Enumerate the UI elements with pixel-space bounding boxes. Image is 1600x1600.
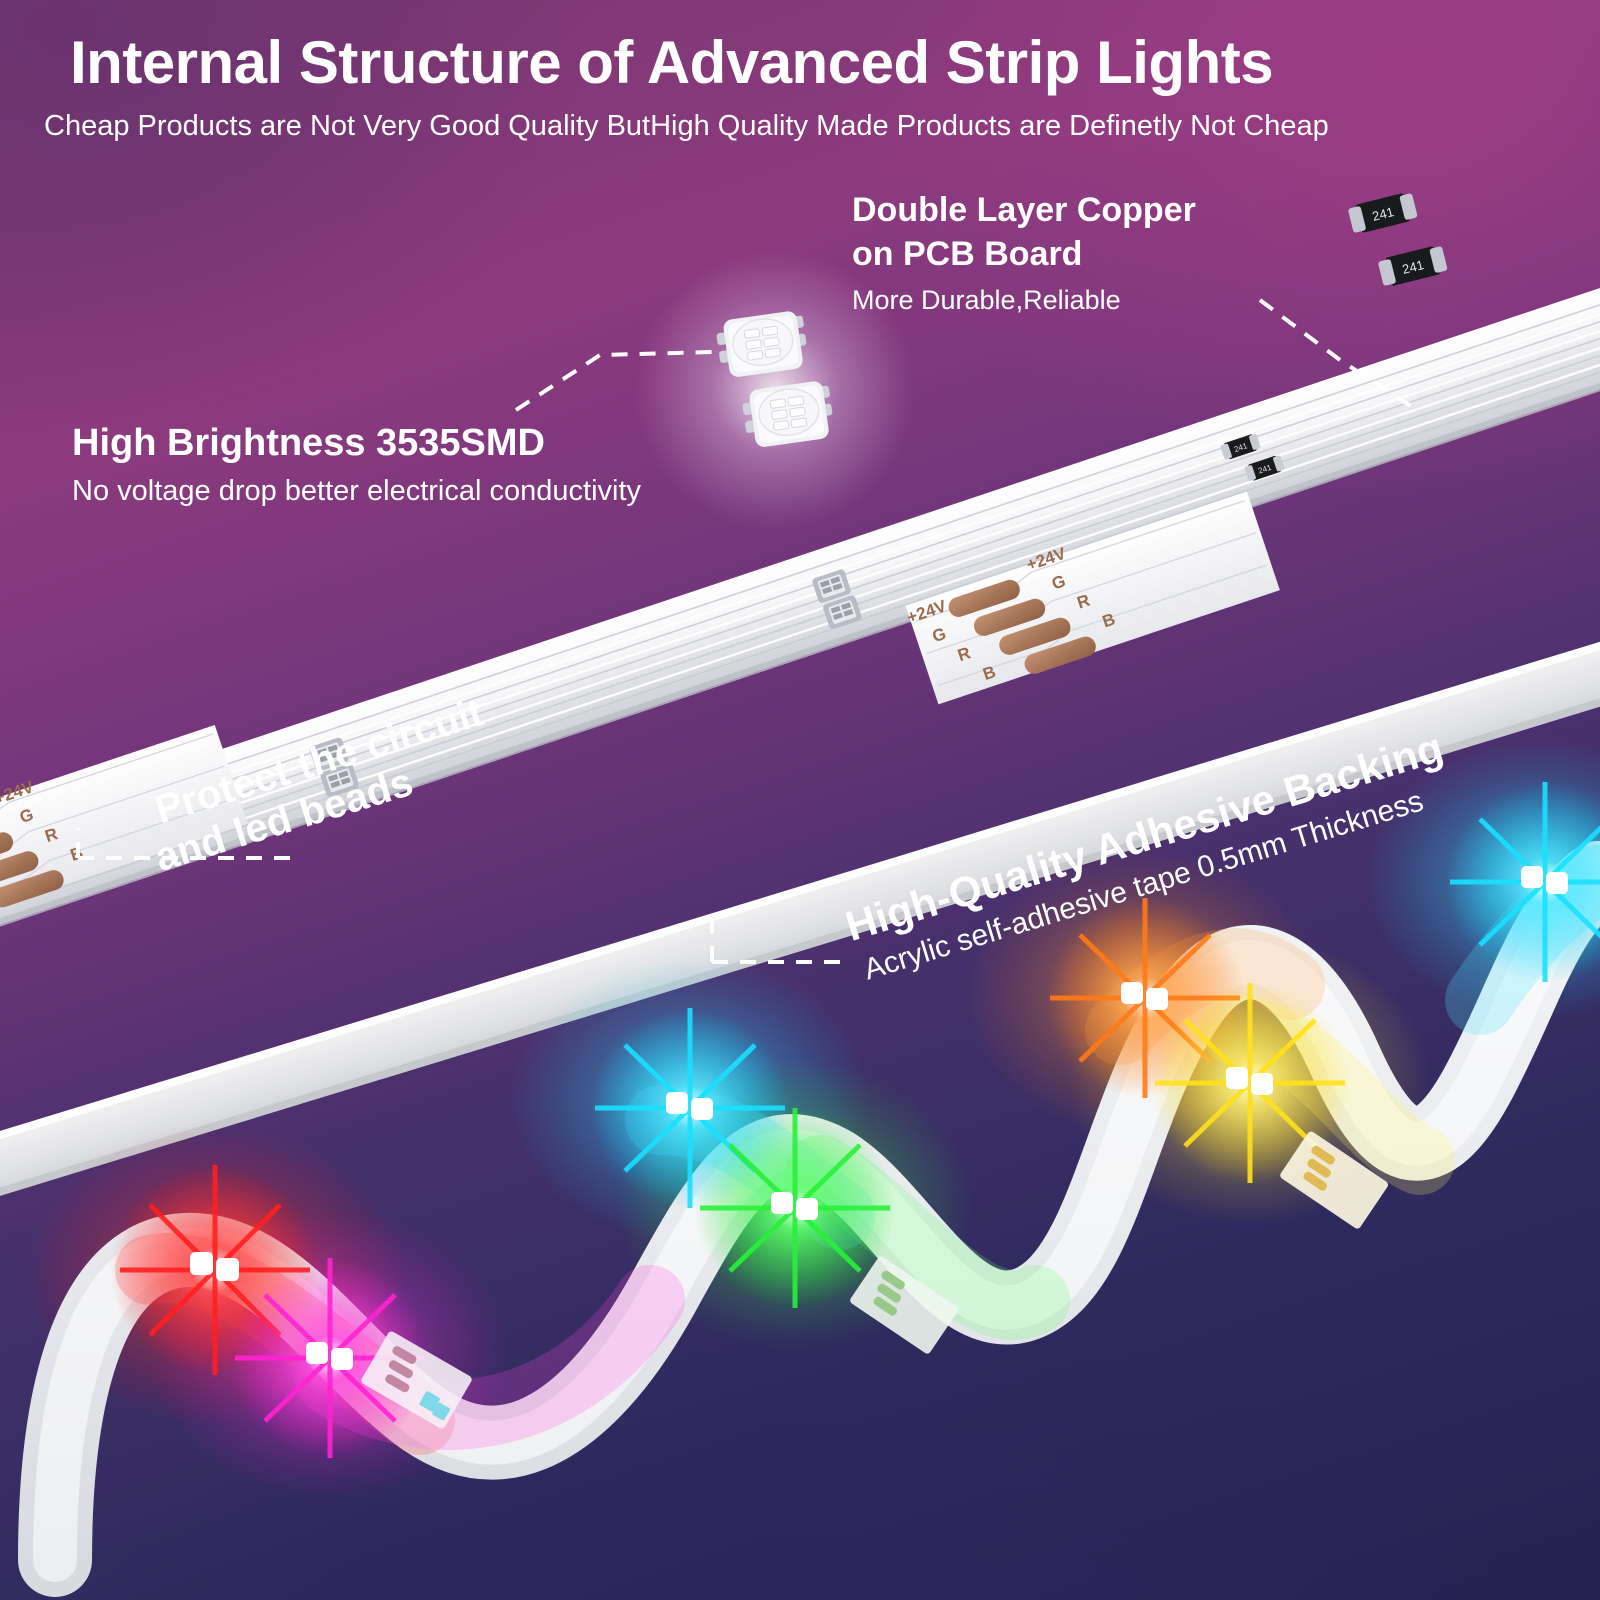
page-title: Internal Structure of Advanced Strip Lig… xyxy=(70,28,1273,97)
smd-resistor-241-a: 241 xyxy=(1347,191,1418,235)
page-subtitle: Cheap Products are Not Very Good Quality… xyxy=(44,110,1329,143)
brightness-heading: High Brightness 3535SMD xyxy=(72,422,545,465)
infographic-canvas: 241 241 xyxy=(0,0,1600,1600)
copper-heading-line1: Double Layer Copper xyxy=(852,190,1196,231)
copper-sub: More Durable,Reliable xyxy=(852,285,1121,316)
smd-resistor-241-b: 241 xyxy=(1377,244,1448,288)
rgb-wavy-strip xyxy=(25,740,1600,1560)
copper-heading-line2: on PCB Board xyxy=(852,234,1082,275)
brightness-sub: No voltage drop better electrical conduc… xyxy=(72,475,641,508)
smd-resistor-samples: 241 241 xyxy=(1347,191,1448,288)
